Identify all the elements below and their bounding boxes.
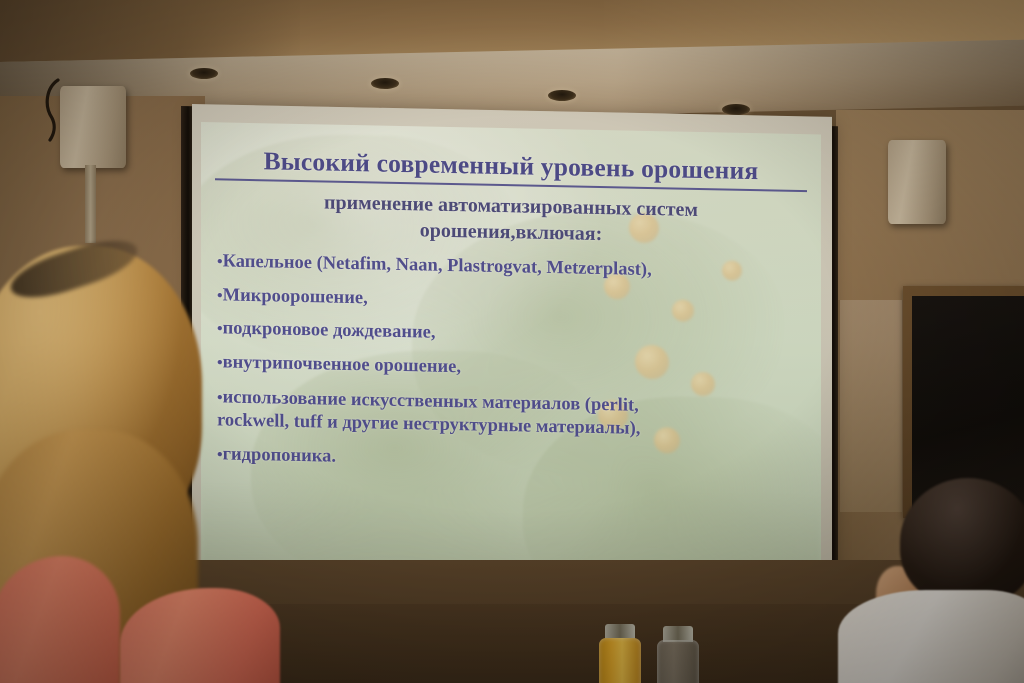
- left-speaker-mount: [85, 165, 96, 243]
- coral-top-shoulder: [0, 556, 120, 683]
- right-wall-speaker: [888, 140, 946, 224]
- bullet-text: гидропоника.: [223, 444, 336, 466]
- bullet-text: Капельное (Netafim, Naan, Plastrogvat, M…: [223, 252, 652, 281]
- slide-bullet-item: •Микроорошение,: [217, 284, 807, 318]
- lecture-hall-photo: Высокий современный уровень орошения при…: [0, 0, 1024, 683]
- white-shirt: [838, 590, 1024, 683]
- slide-bullet-item: •подкроновое дождевание,: [217, 318, 807, 352]
- slide-bullet-item: •Капельное (Netafim, Naan, Plastrogvat, …: [217, 250, 807, 284]
- dark-hair: [900, 478, 1024, 606]
- speaker-cable-icon: [38, 78, 78, 142]
- ceiling-downlight-icon: [548, 90, 576, 101]
- slide-bullet-item: •использование искусственных материалов …: [217, 387, 807, 444]
- slide-title: Высокий современный уровень орошения: [215, 146, 807, 191]
- bullet-text: Микроорошение,: [223, 285, 368, 308]
- bullet-text: подкроновое дождевание,: [223, 319, 436, 343]
- juice-carafe: [596, 624, 644, 683]
- water-carafe: [654, 626, 702, 683]
- ceiling-downlight-icon: [190, 68, 218, 79]
- bullet-text: внутрипочвенное орошение,: [223, 352, 461, 377]
- slide-bullet-item: •гидропоника.: [217, 443, 807, 477]
- carafe-body: [657, 640, 699, 683]
- wall-panel: [840, 300, 902, 512]
- ceiling-downlight-icon: [371, 78, 399, 89]
- carafe-body: [599, 638, 641, 683]
- ceiling-downlight-icon: [722, 104, 750, 115]
- slide-bullet-item: •внутрипочвенное орошение,: [217, 351, 807, 385]
